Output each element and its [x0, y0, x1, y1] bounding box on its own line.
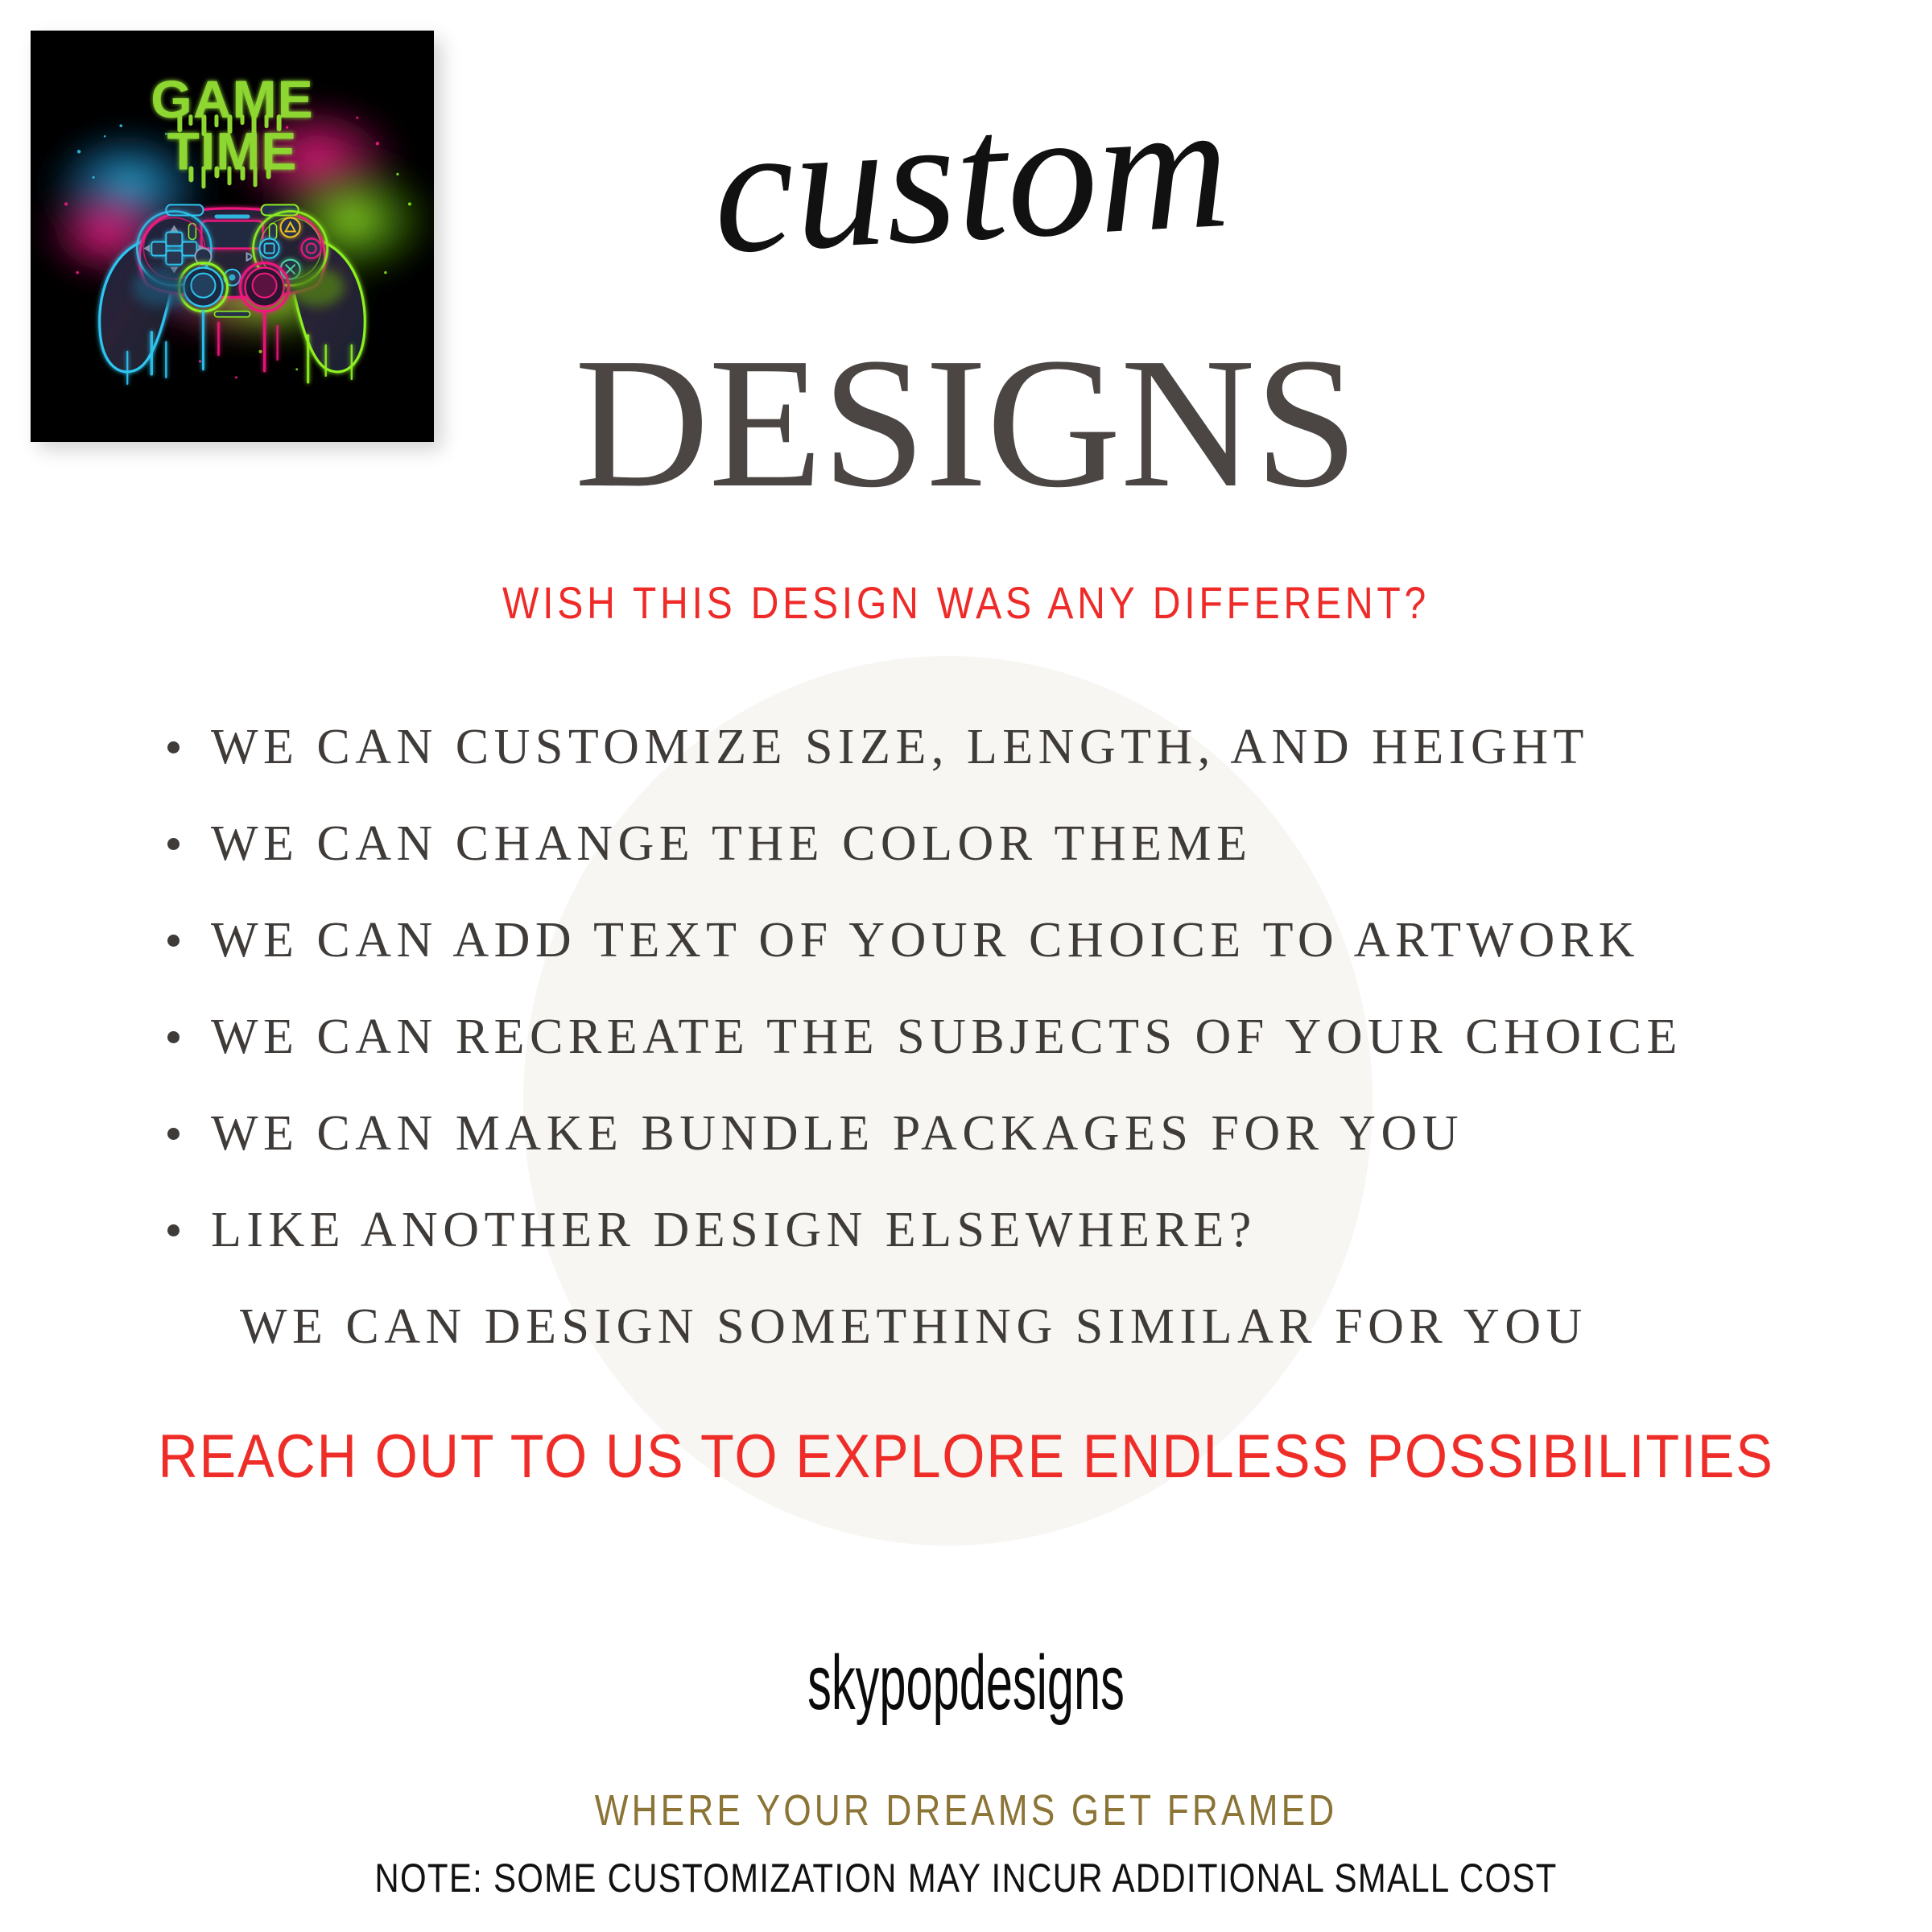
feature-list-item: LIKE ANOTHER DESIGN ELSEWHERE?: [161, 1182, 1876, 1278]
feature-label: WE CAN MAKE BUNDLE PACKAGES FOR YOU: [161, 1108, 1463, 1158]
brand-logo-text: skypopdesigns: [567, 1639, 1365, 1728]
bullet-dot-icon: [167, 1128, 180, 1140]
feature-label: WE CAN ADD TEXT OF YOUR CHOICE TO ARTWOR…: [161, 915, 1640, 965]
svg-text:custom: custom: [708, 97, 1234, 282]
bullet-dot-icon: [167, 1224, 180, 1236]
face-button-square: [260, 239, 279, 258]
right-analog-stick: [241, 263, 289, 312]
feature-list-item: WE CAN MAKE BUNDLE PACKAGES FOR YOU: [161, 1085, 1876, 1182]
face-button-circle: [302, 239, 321, 258]
svg-text:TIME: TIME: [167, 122, 298, 181]
artwork-title-text: GAME TIME: [151, 70, 313, 188]
cta-reach-out-text: REACH OUT TO US TO EXPLORE ENDLESS POSSI…: [140, 1422, 1792, 1492]
feature-list-item: WE CAN RECREATE THE SUBJECTS OF YOUR CHO…: [161, 989, 1876, 1085]
product-artwork-frame[interactable]: GAME TIME: [31, 31, 434, 442]
bullet-dot-icon: [167, 935, 180, 947]
feature-label: WE CAN CHANGE THE COLOR THEME: [161, 819, 1253, 869]
feature-list-item: WE CAN CHANGE THE COLOR THEME: [161, 795, 1876, 892]
page-title-script-word: custom: [499, 97, 1449, 282]
neon-game-controller-artwork: GAME TIME: [31, 31, 434, 442]
face-button-triangle: [281, 217, 300, 237]
footer-note: NOTE: SOME CUSTOMIZATION MAY INCUR ADDIT…: [290, 1855, 1642, 1901]
feature-list-item: WE CAN DESIGN SOMETHING SIMILAR FOR YOU: [161, 1278, 1876, 1375]
feature-label: LIKE ANOTHER DESIGN ELSEWHERE?: [161, 1205, 1257, 1255]
brand-tagline: WHERE YOUR DREAMS GET FRAMED: [504, 1785, 1428, 1835]
bullet-dot-icon: [167, 838, 180, 850]
page-title-main: DESIGNS: [322, 330, 1610, 517]
feature-label: WE CAN DESIGN SOMETHING SIMILAR FOR YOU: [161, 1302, 1587, 1352]
features-list: WE CAN CUSTOMIZE SIZE, LENGTH, AND HEIGH…: [161, 699, 1876, 1375]
feature-list-item: WE CAN CUSTOMIZE SIZE, LENGTH, AND HEIGH…: [161, 699, 1876, 795]
feature-label: WE CAN RECREATE THE SUBJECTS OF YOUR CHO…: [161, 1012, 1682, 1062]
bullet-dot-icon: [167, 1031, 180, 1043]
bullet-dot-icon: [167, 741, 180, 753]
page-subheading: WISH THIS DESIGN WAS ANY DIFFERENT?: [343, 576, 1589, 629]
feature-label: WE CAN CUSTOMIZE SIZE, LENGTH, AND HEIGH…: [161, 722, 1589, 772]
feature-list-item: WE CAN ADD TEXT OF YOUR CHOICE TO ARTWOR…: [161, 892, 1876, 989]
